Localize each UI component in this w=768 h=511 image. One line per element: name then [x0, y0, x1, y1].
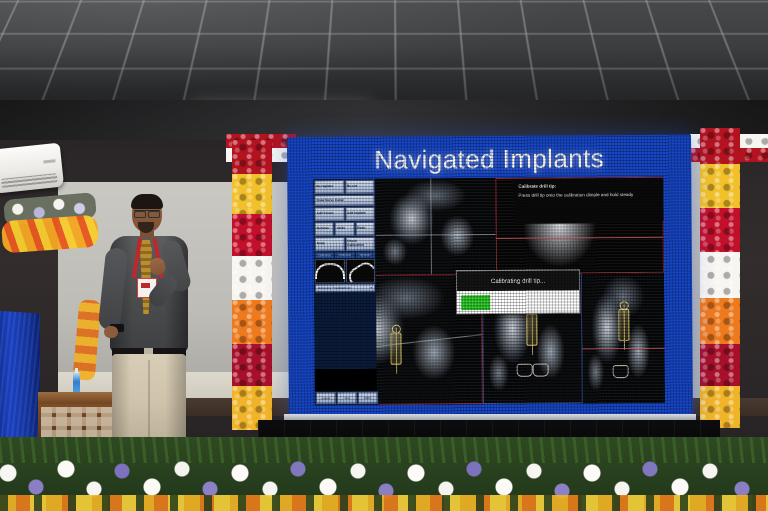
- chevron-down-icon[interactable]: ▾: [370, 286, 372, 290]
- button-remove[interactable]: Remove: [315, 222, 334, 236]
- arch-preview-thumbnail[interactable]: [345, 259, 375, 283]
- bottom-toolbar[interactable]: Layout Tool CBCT: [315, 391, 379, 405]
- button-redo[interactable]: Redo: [355, 222, 374, 236]
- button-snap[interactable]: Snap: [315, 237, 345, 251]
- instruction-callout: Calibrate drill tip: Press drill tip ont…: [513, 179, 663, 224]
- air-conditioner-unit: [0, 143, 64, 194]
- button-re-cut[interactable]: Re-cut: [345, 180, 375, 194]
- ac-vent: [1, 173, 58, 188]
- led-presentation-screen[interactable]: Navigated Implants: [287, 135, 693, 422]
- presenter-trousers: [112, 354, 186, 440]
- button-cbct[interactable]: CBCT: [358, 392, 378, 404]
- tool-panel-filler: [315, 369, 377, 393]
- button-check-calibration[interactable]: Check Calibration: [345, 237, 375, 251]
- progress-bar: [460, 293, 576, 311]
- accuracy-troubleshoot-row[interactable]: Accuracy Troubleshoot ▾: [315, 284, 375, 292]
- callout-body: Press drill tip onto the calibration dim…: [518, 192, 658, 200]
- ct-view-axial[interactable]: [375, 178, 496, 275]
- button-add-crown[interactable]: Add Crown: [315, 207, 345, 221]
- presenter-left-hand: [104, 326, 118, 338]
- tab-calibration[interactable]: Calibration: [315, 252, 334, 258]
- tab-dynamic[interactable]: Dynamic: [355, 252, 374, 258]
- accuracy-troubleshoot-label: Accuracy Troubleshoot: [318, 286, 350, 290]
- floral-column-left: [232, 140, 272, 430]
- tool-panel[interactable]: Re-register Re-cut Draw Nerve Canal Add …: [313, 179, 376, 369]
- foreground-flower-bed: [0, 437, 768, 511]
- eyeglasses-icon: [134, 210, 160, 216]
- arch-preview-thumbnail[interactable]: [315, 259, 345, 283]
- presenter-hair: [131, 194, 163, 209]
- button-tool[interactable]: Tool: [337, 392, 357, 404]
- tab-collection[interactable]: Collection: [335, 252, 354, 258]
- calibration-progress-dialog[interactable]: Calibrating drill tip...: [456, 269, 580, 314]
- progress-bar-fill: [461, 295, 490, 310]
- flower-bed-marigold-row: [0, 495, 768, 511]
- slide-title: Navigated Implants: [287, 143, 691, 177]
- button-layout[interactable]: Layout: [316, 392, 336, 404]
- floral-column-right: [700, 128, 740, 428]
- navigation-software-window[interactable]: Calibrate drill tip: Press drill tip ont…: [313, 177, 665, 405]
- podium: [0, 310, 40, 441]
- button-draw-nerve-canal[interactable]: Draw Nerve Canal: [314, 195, 374, 206]
- button-undo[interactable]: Undo: [335, 222, 354, 236]
- presenter: [104, 196, 200, 440]
- ct-view-sagittal[interactable]: [582, 273, 665, 404]
- dialog-message: Calibrating drill tip...: [457, 270, 579, 291]
- button-add-implant[interactable]: Add Implant: [345, 207, 375, 221]
- callout-heading: Calibrate drill tip:: [518, 183, 658, 189]
- button-re-register[interactable]: Re-register: [314, 180, 344, 194]
- photo-scene: Navigated Implants: [0, 0, 768, 511]
- flower-garland-marigold: [1, 215, 99, 254]
- ac-label: [43, 159, 55, 163]
- crown-overlay[interactable]: [613, 365, 629, 378]
- implant-overlay[interactable]: [618, 309, 629, 341]
